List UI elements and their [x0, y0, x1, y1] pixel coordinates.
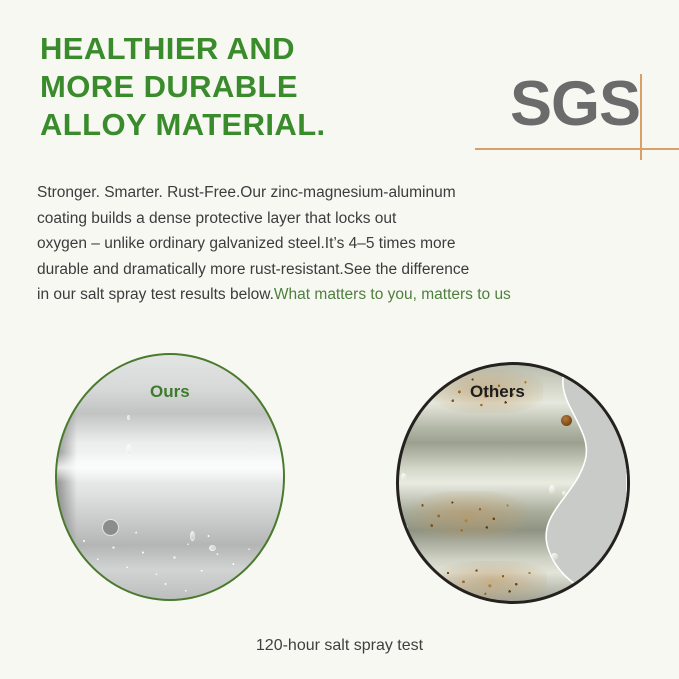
- others-rust-patch-middle: [411, 491, 526, 539]
- promo-image-root: HEALTHIER AND MORE DURABLE ALLOY MATERIA…: [0, 0, 679, 679]
- others-rust-patch-bottom: [437, 561, 547, 601]
- ours-gray-dot: [103, 520, 118, 535]
- ours-metal-sheen: [57, 453, 283, 482]
- sample-label-others: Others: [470, 382, 525, 402]
- sgs-vertical-rule: [640, 74, 642, 160]
- headline-line-3: ALLOY MATERIAL.: [40, 106, 440, 144]
- ours-droplet-3: [190, 531, 195, 541]
- body-line-5-plain: in our salt spray test results below.: [37, 286, 274, 303]
- body-line-4: durable and dramatically more rust-resis…: [37, 257, 647, 283]
- ours-droplet-4: [209, 545, 216, 551]
- others-droplet-3: [551, 553, 558, 560]
- others-rust-spot: [561, 415, 572, 426]
- tagline-accent: What matters to you, matters to us: [274, 286, 511, 303]
- sgs-logo-text: SGS: [510, 68, 640, 140]
- sgs-horizontal-rule: [475, 148, 679, 150]
- body-line-5: in our salt spray test results below.Wha…: [37, 282, 647, 308]
- others-droplet-2: [562, 491, 566, 496]
- salt-spray-comparison: [0, 348, 679, 608]
- test-caption: 120-hour salt spray test: [0, 637, 679, 655]
- body-line-1: Stronger. Smarter. Rust-Free.Our zinc-ma…: [37, 180, 647, 206]
- ours-droplet-1: [127, 415, 130, 420]
- page-title: HEALTHIER AND MORE DURABLE ALLOY MATERIA…: [40, 30, 440, 144]
- headline-line-2: MORE DURABLE: [40, 68, 440, 106]
- body-line-2: coating builds a dense protective layer …: [37, 206, 647, 232]
- others-droplet-1: [549, 485, 555, 494]
- others-droplet-4: [401, 473, 406, 481]
- body-line-3: oxygen – unlike ordinary galvanized stee…: [37, 231, 647, 257]
- sample-label-ours: Ours: [150, 382, 190, 402]
- ours-water-droplet-field: [57, 516, 283, 599]
- ours-bolt-icon: [74, 375, 91, 390]
- ours-droplet-2: [126, 444, 132, 456]
- body-paragraph: Stronger. Smarter. Rust-Free.Our zinc-ma…: [37, 180, 647, 308]
- others-droplet-5: [404, 525, 408, 531]
- headline-line-1: HEALTHIER AND: [40, 30, 440, 68]
- sgs-certification-logo: SGS: [470, 62, 679, 167]
